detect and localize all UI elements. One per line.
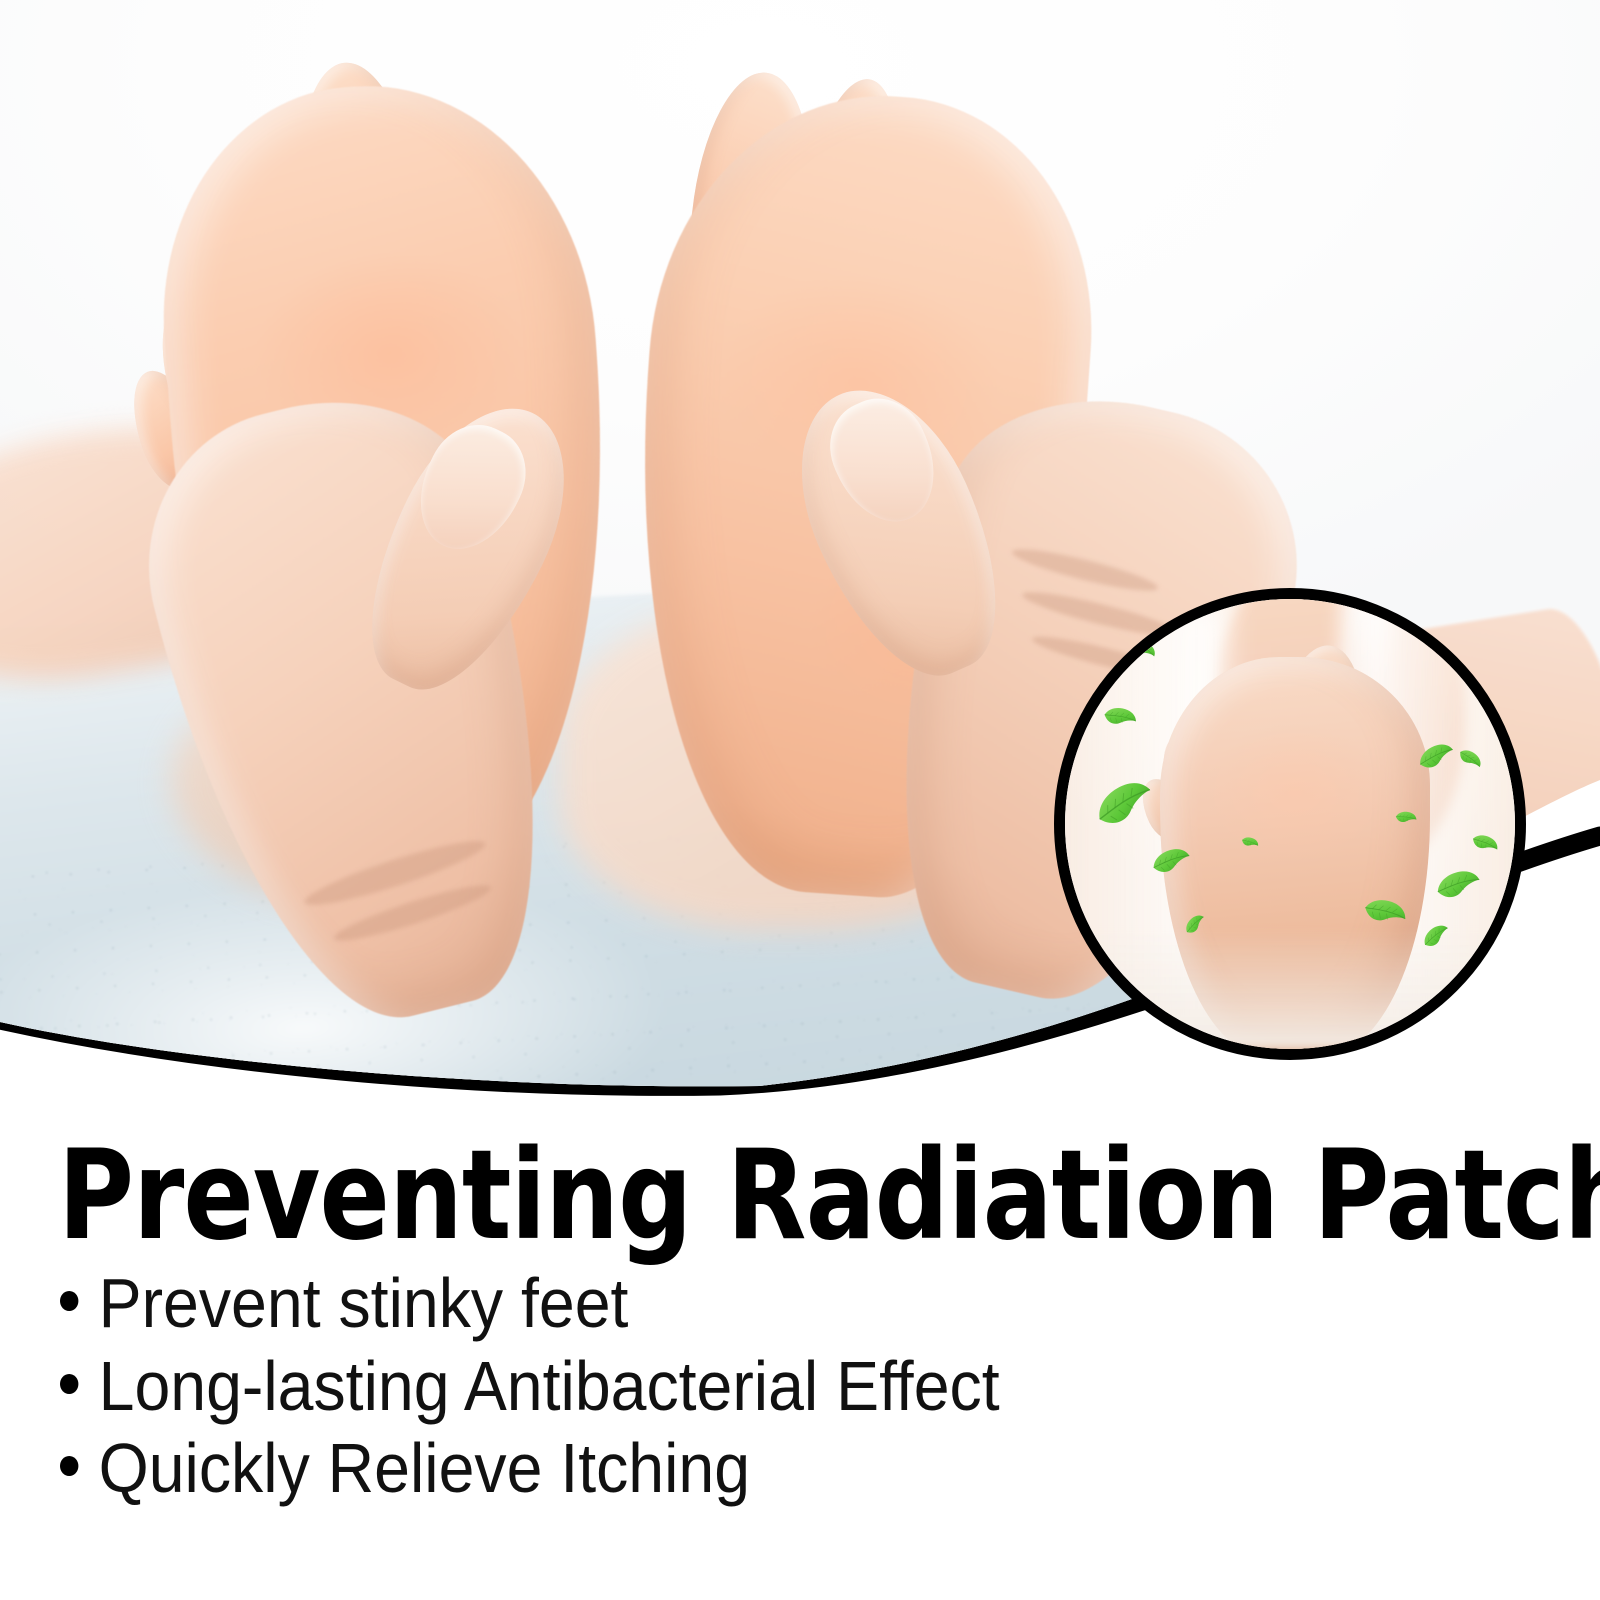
- product-ad-card: Preventing Radiation Patch Prevent stink…: [0, 0, 1600, 1600]
- product-detail-inset: [1054, 588, 1526, 1060]
- bullet-dot-icon: [60, 1456, 78, 1476]
- list-item: Long-lasting Antibacterial Effect: [60, 1345, 1422, 1428]
- benefit-label: Prevent stinky feet: [99, 1262, 629, 1345]
- benefit-label: Quickly Relieve Itching: [99, 1427, 750, 1510]
- page-title: Preventing Radiation Patch: [58, 1134, 1453, 1258]
- benefit-label: Long-lasting Antibacterial Effect: [99, 1345, 1000, 1428]
- benefit-list: Prevent stinky feet Long-lasting Antibac…: [60, 1262, 1540, 1510]
- list-item: Prevent stinky feet: [60, 1262, 1422, 1345]
- bullet-dot-icon: [60, 1291, 78, 1311]
- inset-floor: [1065, 929, 1526, 1049]
- list-item: Quickly Relieve Itching: [60, 1427, 1422, 1510]
- bullet-dot-icon: [60, 1374, 78, 1394]
